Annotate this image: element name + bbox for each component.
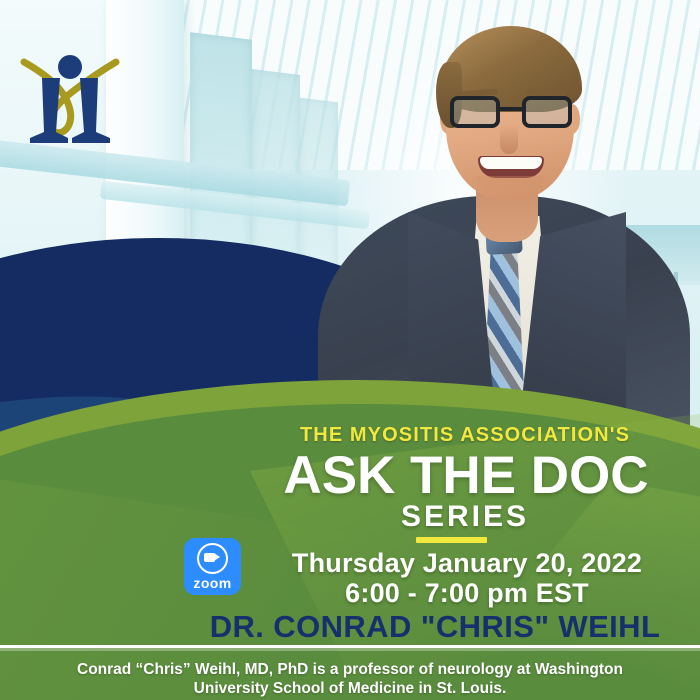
eyeglass-lens-right xyxy=(522,96,572,128)
portrait-teeth xyxy=(480,157,542,169)
eyeglass-bridge xyxy=(500,107,522,111)
portrait-chin-shadow xyxy=(476,176,544,194)
video-camera-body xyxy=(204,553,215,562)
portrait-nose xyxy=(500,124,518,154)
zoom-wordmark: zoom xyxy=(193,576,231,590)
tma-logo[interactable] xyxy=(14,44,126,152)
video-camera-icon xyxy=(197,543,228,574)
event-flyer: THE MYOSITIS ASSOCIATION'S ASK THE DOC S… xyxy=(0,0,700,700)
portrait-smile xyxy=(478,156,544,178)
video-camera-lens xyxy=(214,553,220,561)
zoom-badge[interactable]: zoom xyxy=(184,538,241,595)
eyeglass-lens-left xyxy=(450,96,500,128)
